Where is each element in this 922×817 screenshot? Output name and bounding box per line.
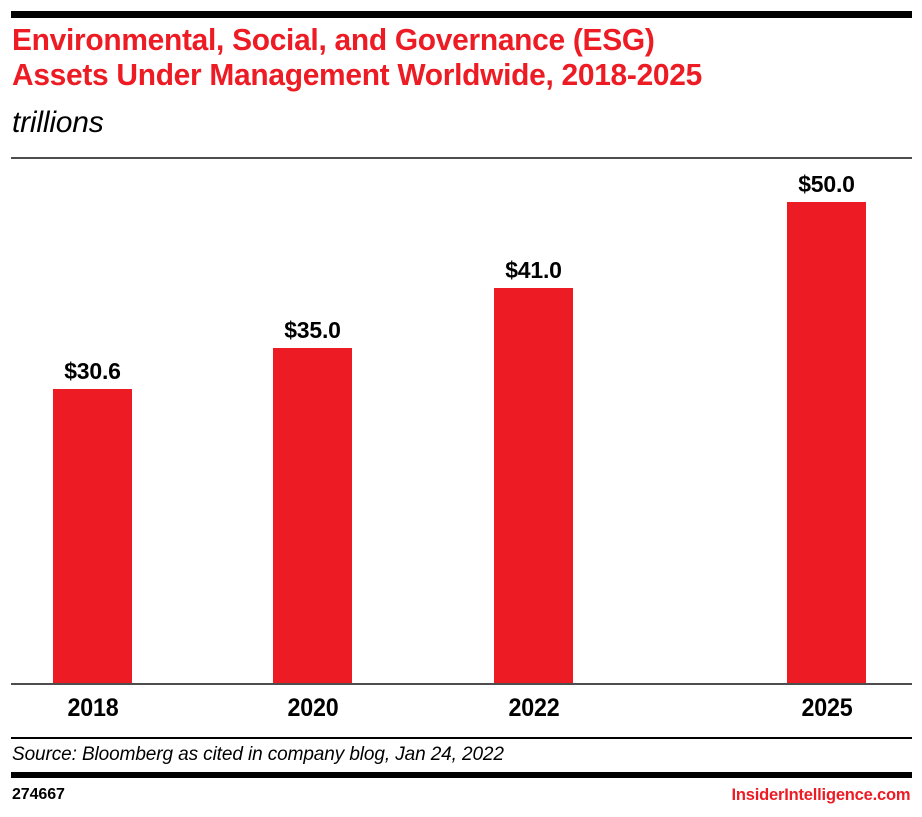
- bar-value-2025: $50.0: [766, 173, 887, 196]
- brand-link[interactable]: InsiderIntelligence.com: [731, 784, 910, 805]
- x-tick-label-2022: 2022: [460, 694, 609, 722]
- bar-2020[interactable]: [273, 348, 352, 685]
- bar-2025[interactable]: [787, 202, 866, 685]
- footer-rule: [11, 772, 912, 778]
- x-tick-label-2020: 2020: [239, 694, 388, 722]
- page-title-line-2: Assets Under Management Worldwide, 2018-…: [12, 57, 879, 92]
- bar-value-2022: $41.0: [473, 259, 594, 282]
- source-note: Source: Bloomberg as cited in company bl…: [12, 743, 504, 767]
- bar-2018[interactable]: [53, 389, 132, 685]
- x-tick-label-2018: 2018: [19, 694, 168, 722]
- x-axis-line: [11, 683, 912, 685]
- bar-value-2020: $35.0: [252, 319, 373, 342]
- source-top-rule: [11, 737, 912, 739]
- chart-subtitle: trillions: [12, 106, 104, 140]
- chart-page: Environmental, Social, and Governance (E…: [0, 0, 922, 817]
- chart-plot-area: $30.6 $35.0 $41.0 $50.0: [11, 159, 912, 685]
- page-title-line-1: Environmental, Social, and Governance (E…: [12, 22, 879, 57]
- bar-value-2018: $30.6: [32, 360, 153, 383]
- x-tick-label-2025: 2025: [753, 694, 902, 722]
- page-title: Environmental, Social, and Governance (E…: [12, 22, 879, 92]
- header-top-rule: [11, 11, 912, 18]
- chart-id: 274667: [12, 785, 65, 805]
- bar-2022[interactable]: [494, 288, 573, 685]
